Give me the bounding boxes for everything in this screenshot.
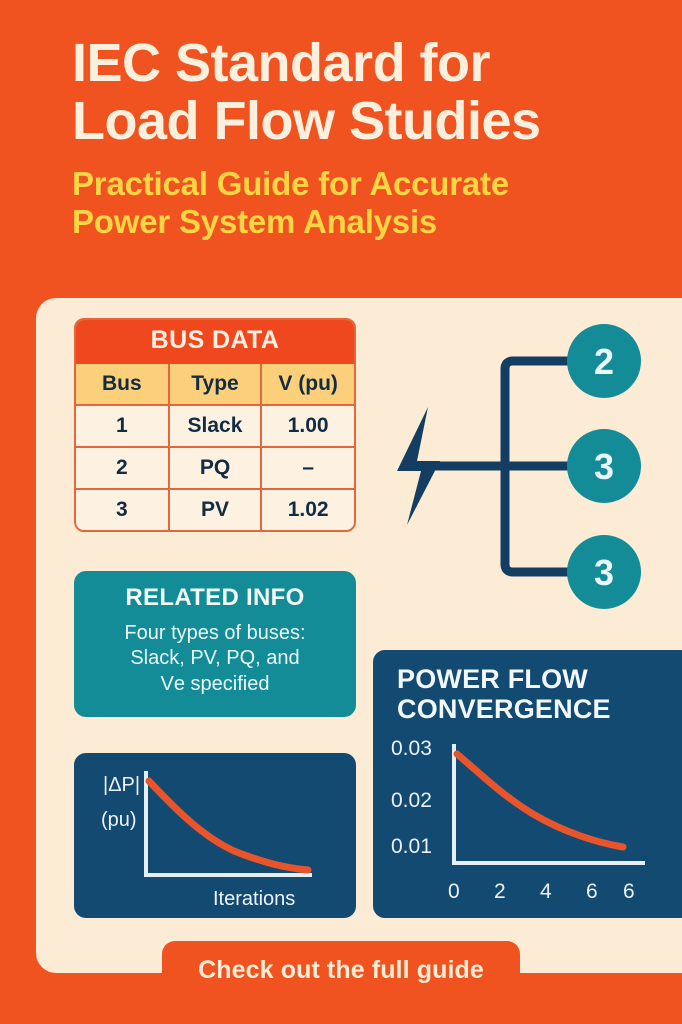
chart-axes: [146, 773, 310, 875]
page-title: IEC Standard for Load Flow Studies: [72, 34, 662, 151]
cell-voltage: 1.02: [261, 489, 354, 530]
cell-type: Slack: [169, 405, 262, 447]
bus-lines: [423, 361, 573, 572]
ytick-label: 0.01: [391, 835, 432, 858]
xtick-label: 2: [494, 880, 506, 903]
bus-data-table: BUS DATA Bus Type V (pu) 1 Slack 1.00 2 …: [74, 318, 356, 532]
header: IEC Standard for Load Flow Studies Pract…: [72, 34, 662, 241]
xtick-label: 4: [540, 880, 552, 903]
convergence-chart-title: POWER FLOW CONVERGENCE: [397, 664, 611, 724]
cell-voltage: 1.00: [261, 405, 354, 447]
table-row: 3 PV 1.02: [76, 489, 354, 530]
bus-node-label: 3: [594, 552, 614, 593]
cell-voltage: –: [261, 447, 354, 489]
bus-network-diagram: 2 3 3: [373, 300, 682, 630]
column-header-type: Type: [169, 364, 262, 405]
delta-p-ylabel: |ΔP|: [103, 774, 140, 796]
page-subtitle: Practical Guide for Accurate Power Syste…: [72, 165, 662, 242]
bus-data-table-title: BUS DATA: [76, 320, 354, 364]
ytick-label: 0.02: [391, 789, 432, 812]
related-info-body: Four types of buses: Slack, PV, PQ, and …: [84, 621, 346, 697]
related-info-panel: RELATED INFO Four types of buses: Slack,…: [74, 571, 356, 717]
bus-node-label: 3: [594, 446, 614, 487]
table-row: 1 Slack 1.00: [76, 405, 354, 447]
cell-bus: 2: [76, 447, 169, 489]
bus-network-svg: 2 3 3: [373, 300, 682, 630]
xtick-label: 0: [448, 880, 460, 903]
bus-data-grid: Bus Type V (pu) 1 Slack 1.00 2 PQ – 3 PV…: [76, 364, 354, 530]
column-header-bus: Bus: [76, 364, 169, 405]
table-row: 2 PQ –: [76, 447, 354, 489]
cell-bus: 3: [76, 489, 169, 530]
column-header-voltage: V (pu): [261, 364, 354, 405]
check-full-guide-button[interactable]: Check out the full guide: [162, 941, 520, 999]
table-header-row: Bus Type V (pu): [76, 364, 354, 405]
content-card: BUS DATA Bus Type V (pu) 1 Slack 1.00 2 …: [36, 298, 682, 973]
cell-type: PV: [169, 489, 262, 530]
xtick-label: 6: [586, 880, 598, 903]
cell-type: PQ: [169, 447, 262, 489]
delta-p-convergence-chart: |ΔP| (pu) Iterations: [74, 753, 356, 918]
related-info-title: RELATED INFO: [84, 584, 346, 612]
cell-bus: 1: [76, 405, 169, 447]
delta-p-xlabel: Iterations: [213, 888, 295, 910]
power-flow-convergence-chart: POWER FLOW CONVERGENCE 0.03 0.02 0.01 0 …: [373, 650, 682, 918]
ytick-label: 0.03: [391, 737, 432, 760]
delta-p-chart-svg: |ΔP| (pu) Iterations: [74, 753, 356, 918]
delta-p-curve: [149, 781, 308, 870]
delta-p-yunit: (pu): [101, 809, 137, 831]
bus-node-label: 2: [594, 341, 614, 382]
xtick-label: 6: [623, 880, 635, 903]
convergence-curve: [457, 754, 623, 847]
